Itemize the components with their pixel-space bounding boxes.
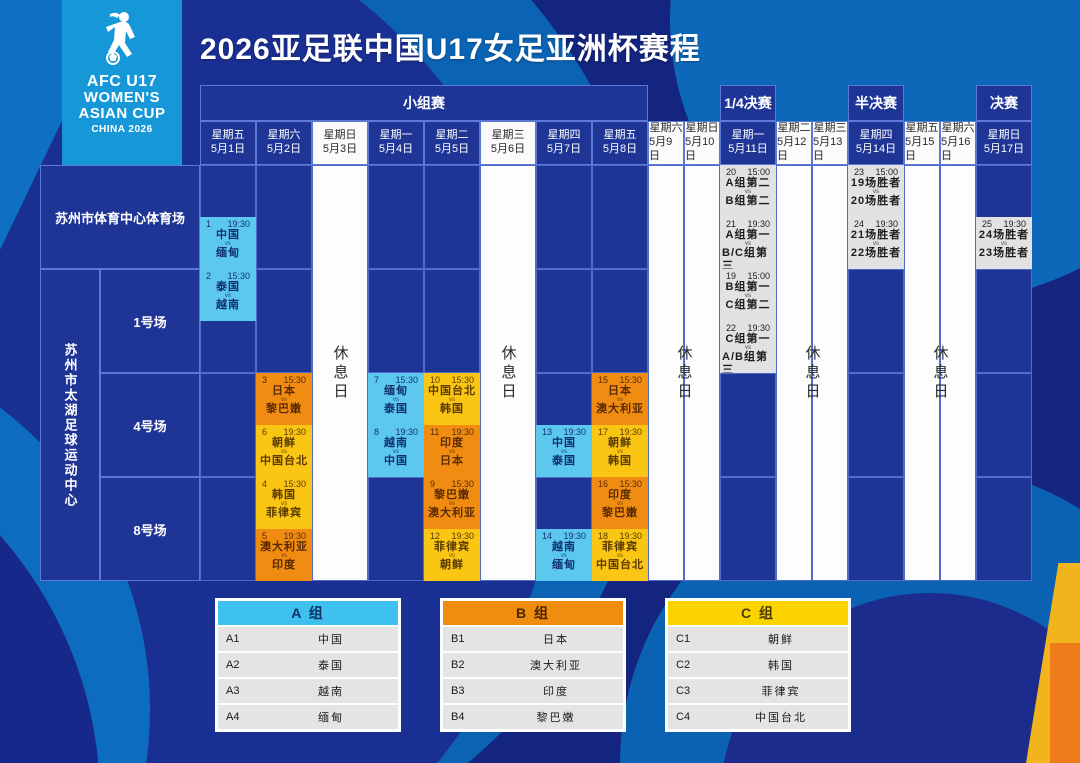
match-time: 19:30 bbox=[283, 427, 306, 437]
date-header-5月14日: 星期四5月14日 bbox=[848, 121, 904, 165]
stage-header-label: 小组赛 bbox=[403, 93, 445, 113]
match-cell-18[interactable]: 1819:30菲律宾vs中国台北 bbox=[592, 529, 648, 581]
match-time: 19:30 bbox=[451, 531, 474, 541]
match-cell-9[interactable]: 915:30黎巴嫩vs澳大利亚 bbox=[424, 477, 480, 529]
group-slot-code: B4 bbox=[443, 711, 489, 723]
grid-cell-5月14日-row2 bbox=[848, 373, 904, 477]
date-header-5月4日: 星期一5月4日 bbox=[368, 121, 424, 165]
match-header: 715:30 bbox=[370, 375, 422, 385]
grid-cell-5月4日-row1 bbox=[368, 269, 424, 373]
date-weekday: 星期日 bbox=[988, 129, 1021, 143]
group-row: A3越南 bbox=[218, 679, 398, 703]
date-header-5月9日: 星期六5月9日 bbox=[648, 121, 684, 165]
match-time: 19:30 bbox=[1003, 219, 1026, 229]
stage-header-4: 决赛 bbox=[976, 85, 1032, 121]
group-row: C4中国台北 bbox=[668, 705, 848, 729]
match-time: 15:00 bbox=[747, 167, 770, 177]
match-cell-6[interactable]: 619:30朝鲜vs中国台北 bbox=[256, 425, 312, 477]
grid-cell-5月2日-row1 bbox=[256, 269, 312, 373]
grid-cell-5月1日-row2 bbox=[200, 373, 256, 477]
match-cell-12[interactable]: 1219:30菲律宾vs朝鲜 bbox=[424, 529, 480, 581]
date-header-5月17日: 星期日5月17日 bbox=[976, 121, 1032, 165]
match-home-team: 日本 bbox=[272, 385, 296, 397]
match-away-team: 泰国 bbox=[552, 455, 576, 467]
match-cell-8[interactable]: 819:30越南vs中国 bbox=[368, 425, 424, 477]
match-vs-label: vs bbox=[561, 553, 567, 559]
match-away-team: 22场胜者 bbox=[851, 247, 901, 259]
stage-header-label: 1/4决赛 bbox=[724, 93, 771, 113]
match-cell-17[interactable]: 1719:30朝鲜vs韩国 bbox=[592, 425, 648, 477]
match-away-team: 23场胜者 bbox=[979, 247, 1029, 259]
match-number: 22 bbox=[726, 323, 736, 333]
match-away-team: 日本 bbox=[440, 455, 464, 467]
match-number: 23 bbox=[854, 167, 864, 177]
date-day: 5月2日 bbox=[267, 143, 301, 157]
match-header: 2419:30 bbox=[850, 219, 902, 229]
match-away-team: A/B组第三 bbox=[722, 351, 774, 373]
match-time: 15:00 bbox=[747, 271, 770, 281]
match-home-team: 泰国 bbox=[216, 281, 240, 293]
grid-cell-5月2日-row0 bbox=[256, 165, 312, 269]
grid-cell-5月5日-row1 bbox=[424, 269, 480, 373]
match-away-team: 澳大利亚 bbox=[596, 403, 644, 415]
match-home-team: 澳大利亚 bbox=[260, 541, 308, 553]
match-cell-5[interactable]: 519:30澳大利亚vs印度 bbox=[256, 529, 312, 581]
group-team-name: 日本 bbox=[489, 631, 623, 647]
match-number: 3 bbox=[262, 375, 267, 385]
date-weekday: 星期五 bbox=[212, 129, 245, 143]
match-home-team: 菲律宾 bbox=[602, 541, 638, 553]
group-row: A4缅甸 bbox=[218, 705, 398, 729]
date-day: 5月16日 bbox=[941, 136, 975, 164]
match-vs-label: vs bbox=[281, 553, 287, 559]
date-weekday: 星期二 bbox=[778, 122, 811, 136]
match-cell-20[interactable]: 2015:00A组第二vsB组第二 bbox=[720, 165, 776, 217]
grid-cell-5月5日-row0 bbox=[424, 165, 480, 269]
stage-header-3: 半决赛 bbox=[848, 85, 904, 121]
match-time: 19:30 bbox=[875, 219, 898, 229]
match-home-team: B组第一 bbox=[726, 281, 771, 293]
group-slot-code: B1 bbox=[443, 633, 489, 645]
match-home-team: 中国 bbox=[216, 229, 240, 241]
date-day: 5月9日 bbox=[649, 136, 683, 164]
match-header: 2219:30 bbox=[722, 323, 774, 333]
match-number: 13 bbox=[542, 427, 552, 437]
match-cell-13[interactable]: 1319:30中国vs泰国 bbox=[536, 425, 592, 477]
match-home-team: 中国台北 bbox=[428, 385, 476, 397]
match-cell-24[interactable]: 2419:3021场胜者vs22场胜者 bbox=[848, 217, 904, 269]
venue-stadium: 苏州市体育中心体育场 bbox=[40, 165, 200, 269]
date-header-5月8日: 星期五5月8日 bbox=[592, 121, 648, 165]
match-vs-label: vs bbox=[745, 345, 751, 351]
match-header: 315:30 bbox=[258, 375, 310, 385]
venue-pitch-4号场: 4号场 bbox=[100, 373, 200, 477]
match-cell-2[interactable]: 215:30泰国vs越南 bbox=[200, 269, 256, 321]
match-header: 915:30 bbox=[426, 479, 478, 489]
match-home-team: 朝鲜 bbox=[272, 437, 296, 449]
match-header: 2119:30 bbox=[722, 219, 774, 229]
match-time: 15:30 bbox=[283, 375, 306, 385]
match-home-team: 21场胜者 bbox=[851, 229, 901, 241]
stage-header-label: 决赛 bbox=[990, 93, 1018, 113]
match-home-team: 中国 bbox=[552, 437, 576, 449]
date-weekday: 星期五 bbox=[906, 122, 939, 136]
match-home-team: 朝鲜 bbox=[608, 437, 632, 449]
match-time: 15:30 bbox=[619, 375, 642, 385]
match-number: 2 bbox=[206, 271, 211, 281]
match-vs-label: vs bbox=[873, 241, 879, 247]
date-day: 5月14日 bbox=[856, 143, 896, 157]
match-time: 19:30 bbox=[563, 531, 586, 541]
match-time: 15:30 bbox=[395, 375, 418, 385]
group-row: B2澳大利亚 bbox=[443, 653, 623, 677]
match-vs-label: vs bbox=[281, 449, 287, 455]
date-header-5月10日: 星期日5月10日 bbox=[684, 121, 720, 165]
date-weekday: 星期三 bbox=[814, 122, 847, 136]
venue-complex-label: 苏州市太湖足球运动中心 bbox=[61, 343, 80, 508]
date-header-5月15日: 星期五5月15日 bbox=[904, 121, 940, 165]
group-slot-code: C3 bbox=[668, 685, 714, 697]
match-header: 1015:30 bbox=[426, 375, 478, 385]
match-header: 415:30 bbox=[258, 479, 310, 489]
match-cell-16[interactable]: 1615:30印度vs黎巴嫩 bbox=[592, 477, 648, 529]
date-day: 5月5日 bbox=[435, 143, 469, 157]
date-day: 5月12日 bbox=[777, 136, 811, 164]
group-slot-code: C4 bbox=[668, 711, 714, 723]
group-table-a: A 组A1中国A2泰国A3越南A4缅甸 bbox=[215, 598, 401, 732]
match-number: 6 bbox=[262, 427, 267, 437]
date-header-5月7日: 星期四5月7日 bbox=[536, 121, 592, 165]
match-vs-label: vs bbox=[617, 501, 623, 507]
match-time: 19:30 bbox=[227, 219, 250, 229]
group-row: A1中国 bbox=[218, 627, 398, 651]
match-away-team: 中国 bbox=[384, 455, 408, 467]
match-number: 14 bbox=[542, 531, 552, 541]
match-header: 819:30 bbox=[370, 427, 422, 437]
background-accent-orange bbox=[1050, 643, 1080, 763]
group-row: B3印度 bbox=[443, 679, 623, 703]
date-header-5月5日: 星期二5月5日 bbox=[424, 121, 480, 165]
match-home-team: C组第一 bbox=[726, 333, 771, 345]
stage-header-2: 1/4决赛 bbox=[720, 85, 776, 121]
match-away-team: 澳大利亚 bbox=[428, 507, 476, 519]
match-header: 215:30 bbox=[202, 271, 254, 281]
match-away-team: 韩国 bbox=[440, 403, 464, 415]
rest-day-column-5月13日 bbox=[812, 165, 848, 581]
group-slot-code: C1 bbox=[668, 633, 714, 645]
match-time: 19:30 bbox=[747, 323, 770, 333]
group-slot-code: A3 bbox=[218, 685, 264, 697]
grid-cell-5月14日-row1 bbox=[848, 269, 904, 373]
match-home-team: 24场胜者 bbox=[979, 229, 1029, 241]
match-header: 1219:30 bbox=[426, 531, 478, 541]
date-weekday: 星期五 bbox=[604, 129, 637, 143]
venue-complex: 苏州市太湖足球运动中心 bbox=[40, 269, 100, 581]
stage-header-1: 小组赛 bbox=[200, 85, 648, 121]
match-header: 2519:30 bbox=[978, 219, 1030, 229]
rest-day-column-5月12日 bbox=[776, 165, 812, 581]
grid-cell-5月14日-row3 bbox=[848, 477, 904, 581]
match-away-team: 中国台北 bbox=[260, 455, 308, 467]
venue-pitch-1号场-label: 1号场 bbox=[133, 312, 166, 331]
group-team-name: 菲律宾 bbox=[714, 683, 848, 699]
group-header-a: A 组 bbox=[218, 601, 398, 625]
match-vs-label: vs bbox=[449, 501, 455, 507]
match-number: 11 bbox=[430, 427, 439, 437]
match-cell-10[interactable]: 1015:30中国台北vs韩国 bbox=[424, 373, 480, 425]
group-team-name: 中国 bbox=[264, 631, 398, 647]
date-weekday: 星期六 bbox=[268, 129, 301, 143]
match-home-team: 菲律宾 bbox=[434, 541, 470, 553]
match-time: 19:30 bbox=[395, 427, 418, 437]
group-slot-code: A4 bbox=[218, 711, 264, 723]
match-home-team: 19场胜者 bbox=[851, 177, 901, 189]
date-header-5月13日: 星期三5月13日 bbox=[812, 121, 848, 165]
grid-cell-5月17日-row2 bbox=[976, 373, 1032, 477]
grid-cell-5月4日-row3 bbox=[368, 477, 424, 581]
grid-cell-5月8日-row1 bbox=[592, 269, 648, 373]
group-slot-code: B3 bbox=[443, 685, 489, 697]
match-cell-19[interactable]: 1915:00B组第一vsC组第二 bbox=[720, 269, 776, 321]
date-header-5月12日: 星期二5月12日 bbox=[776, 121, 812, 165]
group-team-name: 越南 bbox=[264, 683, 398, 699]
rest-day-column-5月6日 bbox=[480, 165, 536, 581]
match-away-team: 黎巴嫩 bbox=[602, 507, 638, 519]
match-header: 619:30 bbox=[258, 427, 310, 437]
match-time: 19:30 bbox=[747, 219, 770, 229]
date-day: 5月4日 bbox=[379, 143, 413, 157]
group-team-name: 泰国 bbox=[264, 657, 398, 673]
match-header: 1419:30 bbox=[538, 531, 590, 541]
group-table-b: B 组B1日本B2澳大利亚B3印度B4黎巴嫩 bbox=[440, 598, 626, 732]
group-team-name: 中国台北 bbox=[714, 709, 848, 725]
match-home-team: A组第二 bbox=[726, 177, 771, 189]
match-time: 19:30 bbox=[283, 531, 306, 541]
match-number: 21 bbox=[726, 219, 736, 229]
match-header: 119:30 bbox=[202, 219, 254, 229]
match-header: 1819:30 bbox=[594, 531, 646, 541]
date-day: 5月1日 bbox=[211, 143, 245, 157]
venue-stadium-label: 苏州市体育中心体育场 bbox=[55, 208, 185, 227]
match-cell-7[interactable]: 715:30缅甸vs泰国 bbox=[368, 373, 424, 425]
grid-cell-5月4日-row0 bbox=[368, 165, 424, 269]
match-number: 12 bbox=[430, 531, 440, 541]
rest-day-column-5月16日 bbox=[940, 165, 976, 581]
match-cell-11[interactable]: 1119:30印度vs日本 bbox=[424, 425, 480, 477]
date-weekday: 星期六 bbox=[650, 122, 683, 136]
match-home-team: 缅甸 bbox=[384, 385, 408, 397]
date-day: 5月3日 bbox=[323, 143, 357, 157]
venue-pitch-1号场: 1号场 bbox=[100, 269, 200, 373]
group-team-name: 朝鲜 bbox=[714, 631, 848, 647]
match-header: 519:30 bbox=[258, 531, 310, 541]
date-day: 5月17日 bbox=[984, 143, 1024, 157]
match-time: 15:30 bbox=[451, 375, 474, 385]
match-vs-label: vs bbox=[617, 397, 623, 403]
match-header: 1719:30 bbox=[594, 427, 646, 437]
match-vs-label: vs bbox=[617, 553, 623, 559]
venue-pitch-8号场-label: 8号场 bbox=[133, 520, 166, 539]
group-team-name: 澳大利亚 bbox=[489, 657, 623, 673]
match-number: 1 bbox=[206, 219, 211, 229]
match-number: 18 bbox=[598, 531, 608, 541]
match-home-team: 印度 bbox=[440, 437, 464, 449]
match-away-team: 泰国 bbox=[384, 403, 408, 415]
match-vs-label: vs bbox=[561, 449, 567, 455]
match-vs-label: vs bbox=[617, 449, 623, 455]
page-title: 2026亚足联中国U17女足亚洲杯赛程 bbox=[200, 24, 701, 68]
match-vs-label: vs bbox=[225, 241, 231, 247]
match-cell-4[interactable]: 415:30韩国vs菲律宾 bbox=[256, 477, 312, 529]
match-number: 4 bbox=[262, 479, 267, 489]
match-header: 2015:00 bbox=[722, 167, 774, 177]
match-number: 17 bbox=[598, 427, 608, 437]
match-home-team: 日本 bbox=[608, 385, 632, 397]
match-vs-label: vs bbox=[393, 449, 399, 455]
match-number: 9 bbox=[430, 479, 435, 489]
date-weekday: 星期一 bbox=[732, 129, 765, 143]
date-day: 5月15日 bbox=[905, 136, 939, 164]
group-row: B4黎巴嫩 bbox=[443, 705, 623, 729]
match-cell-3[interactable]: 315:30日本vs黎巴嫩 bbox=[256, 373, 312, 425]
group-slot-code: C2 bbox=[668, 659, 714, 671]
grid-cell-5月1日-row3 bbox=[200, 477, 256, 581]
match-time: 15:30 bbox=[227, 271, 250, 281]
group-table-c: C 组C1朝鲜C2韩国C3菲律宾C4中国台北 bbox=[665, 598, 851, 732]
match-header: 1515:30 bbox=[594, 375, 646, 385]
group-row: C2韩国 bbox=[668, 653, 848, 677]
date-day: 5月11日 bbox=[728, 143, 768, 157]
match-away-team: B组第二 bbox=[726, 195, 771, 207]
match-vs-label: vs bbox=[449, 397, 455, 403]
match-number: 5 bbox=[262, 531, 267, 541]
match-vs-label: vs bbox=[745, 241, 751, 247]
match-vs-label: vs bbox=[449, 553, 455, 559]
match-home-team: A组第一 bbox=[726, 229, 771, 241]
match-vs-label: vs bbox=[225, 293, 231, 299]
match-header: 1319:30 bbox=[538, 427, 590, 437]
match-vs-label: vs bbox=[745, 189, 751, 195]
grid-cell-5月7日-row1 bbox=[536, 269, 592, 373]
match-away-team: B/C组第三 bbox=[722, 247, 774, 269]
match-header: 1915:00 bbox=[722, 271, 774, 281]
date-day: 5月6日 bbox=[491, 143, 525, 157]
match-cell-25[interactable]: 2519:3024场胜者vs23场胜者 bbox=[976, 217, 1032, 269]
date-weekday: 星期日 bbox=[324, 129, 357, 143]
match-cell-15[interactable]: 1515:30日本vs澳大利亚 bbox=[592, 373, 648, 425]
match-number: 25 bbox=[982, 219, 992, 229]
grid-cell-5月17日-row3 bbox=[976, 477, 1032, 581]
match-number: 15 bbox=[598, 375, 608, 385]
match-vs-label: vs bbox=[281, 397, 287, 403]
match-home-team: 印度 bbox=[608, 489, 632, 501]
date-header-5月1日: 星期五5月1日 bbox=[200, 121, 256, 165]
group-slot-code: A2 bbox=[218, 659, 264, 671]
group-header-c: C 组 bbox=[668, 601, 848, 625]
grid-cell-5月17日-row1 bbox=[976, 269, 1032, 373]
match-vs-label: vs bbox=[873, 189, 879, 195]
stage-header-label: 半决赛 bbox=[855, 93, 897, 113]
date-weekday: 星期三 bbox=[492, 129, 525, 143]
match-cell-21[interactable]: 2119:30A组第一vsB/C组第三 bbox=[720, 217, 776, 269]
date-day: 5月10日 bbox=[685, 136, 719, 164]
match-vs-label: vs bbox=[745, 293, 751, 299]
match-away-team: C组第二 bbox=[726, 299, 771, 311]
match-cell-22[interactable]: 2219:30C组第一vsA/B组第三 bbox=[720, 321, 776, 373]
match-vs-label: vs bbox=[281, 501, 287, 507]
group-team-name: 韩国 bbox=[714, 657, 848, 673]
match-away-team: 越南 bbox=[216, 299, 240, 311]
date-header-5月16日: 星期六5月16日 bbox=[940, 121, 976, 165]
match-number: 16 bbox=[598, 479, 608, 489]
match-cell-1[interactable]: 119:30中国vs缅甸 bbox=[200, 217, 256, 269]
match-time: 15:00 bbox=[875, 167, 898, 177]
match-number: 20 bbox=[726, 167, 736, 177]
match-away-team: 印度 bbox=[272, 559, 296, 571]
match-number: 19 bbox=[726, 271, 736, 281]
match-header: 1615:30 bbox=[594, 479, 646, 489]
grid-cell-5月11日-row3 bbox=[720, 477, 776, 581]
grid-cell-5月11日-row2 bbox=[720, 373, 776, 477]
match-time: 15:30 bbox=[451, 479, 474, 489]
match-number: 10 bbox=[430, 375, 440, 385]
match-home-team: 越南 bbox=[552, 541, 576, 553]
group-team-name: 印度 bbox=[489, 683, 623, 699]
match-time: 19:30 bbox=[563, 427, 586, 437]
match-header: 1119:30 bbox=[426, 427, 478, 437]
match-home-team: 越南 bbox=[384, 437, 408, 449]
match-time: 15:30 bbox=[283, 479, 306, 489]
group-row: A2泰国 bbox=[218, 653, 398, 677]
match-away-team: 中国台北 bbox=[596, 559, 644, 571]
group-row: C1朝鲜 bbox=[668, 627, 848, 651]
match-cell-14[interactable]: 1419:30越南vs缅甸 bbox=[536, 529, 592, 581]
group-header-b: B 组 bbox=[443, 601, 623, 625]
match-away-team: 韩国 bbox=[608, 455, 632, 467]
match-cell-23[interactable]: 2315:0019场胜者vs20场胜者 bbox=[848, 165, 904, 217]
match-away-team: 缅甸 bbox=[552, 559, 576, 571]
match-home-team: 黎巴嫩 bbox=[434, 489, 470, 501]
match-away-team: 朝鲜 bbox=[440, 559, 464, 571]
date-header-5月11日: 星期一5月11日 bbox=[720, 121, 776, 165]
match-header: 2315:00 bbox=[850, 167, 902, 177]
venue-pitch-4号场-label: 4号场 bbox=[133, 416, 166, 435]
date-weekday: 星期六 bbox=[942, 122, 975, 136]
date-day: 5月8日 bbox=[603, 143, 637, 157]
rest-day-column-5月9日 bbox=[648, 165, 684, 581]
date-weekday: 星期二 bbox=[436, 129, 469, 143]
match-vs-label: vs bbox=[449, 449, 455, 455]
group-slot-code: B2 bbox=[443, 659, 489, 671]
match-time: 19:30 bbox=[451, 427, 474, 437]
footballer-icon bbox=[90, 8, 154, 72]
date-weekday: 星期四 bbox=[860, 129, 893, 143]
group-team-name: 黎巴嫩 bbox=[489, 709, 623, 725]
date-weekday: 星期四 bbox=[548, 129, 581, 143]
date-day: 5月7日 bbox=[547, 143, 581, 157]
date-weekday: 星期日 bbox=[686, 122, 719, 136]
match-away-team: 20场胜者 bbox=[851, 195, 901, 207]
schedule-board: 小组赛1/4决赛半决赛决赛 星期五5月1日星期六5月2日星期日5月3日星期一5月… bbox=[40, 85, 1042, 585]
rest-day-column-5月15日 bbox=[904, 165, 940, 581]
match-time: 19:30 bbox=[619, 531, 642, 541]
group-slot-code: A1 bbox=[218, 633, 264, 645]
match-number: 7 bbox=[374, 375, 379, 385]
match-home-team: 韩国 bbox=[272, 489, 296, 501]
match-time: 19:30 bbox=[619, 427, 642, 437]
match-number: 24 bbox=[854, 219, 864, 229]
match-away-team: 缅甸 bbox=[216, 247, 240, 259]
